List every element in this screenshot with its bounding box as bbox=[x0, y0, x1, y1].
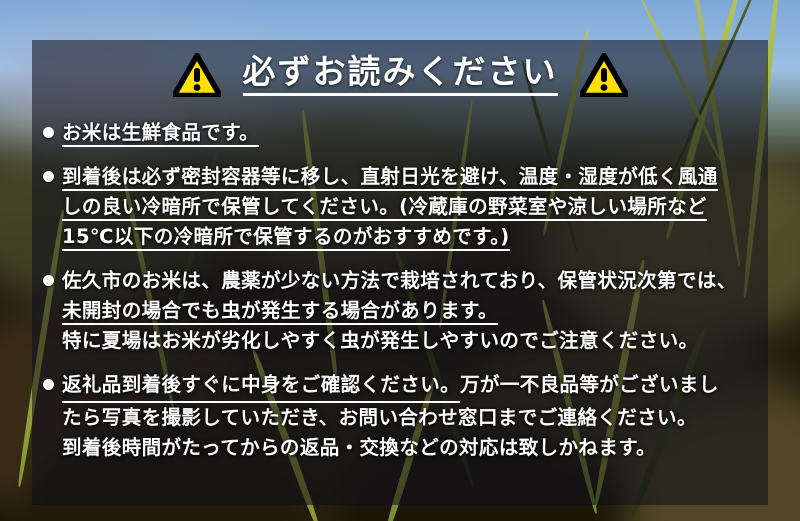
notice-line-text-underlined: 返礼品到着後すぐに中身をご確認ください。 bbox=[62, 370, 460, 403]
notice-item-fresh-food: お米は生鮮食品です。 bbox=[32, 118, 768, 148]
bullet-dot-icon bbox=[43, 171, 54, 182]
bullet-dot-icon bbox=[43, 275, 54, 286]
notice-line-text: 佐久市のお米は、農薬が少ない方法で栽培されており、保管状況次第では、 bbox=[62, 269, 737, 292]
notice-line-text: 15℃以下の冷暗所で保管するのがおすすめです。) bbox=[62, 225, 510, 251]
notice-line: 到着後時間がたってからの返品・交換などの対応は致しかねます。 bbox=[62, 433, 768, 463]
notice-line-text: 未開封の場合でも虫が発生する場合があります。 bbox=[62, 299, 498, 325]
heading-title: 必ずお読みください bbox=[243, 55, 558, 96]
notice-line: たら写真を撮影していただき、お問い合わせ窓口までご連絡ください。 bbox=[62, 403, 768, 433]
notice-line: 特に夏場はお米が劣化しやすく虫が発生しやすいのでご注意ください。 bbox=[62, 326, 768, 356]
notice-line-text: しの良い冷暗所で保管してください。(冷蔵庫の野菜室や涼しい場所など bbox=[62, 195, 707, 221]
notice-item-pesticide-insects: 佐久市のお米は、農薬が少ない方法で栽培されており、保管状況次第では、 未開封の場… bbox=[32, 266, 768, 356]
bullet-dot-icon bbox=[43, 127, 54, 138]
notice-line-text: たら写真を撮影していただき、お問い合わせ窓口までご連絡ください。 bbox=[62, 406, 697, 429]
notice-line: 到着後は必ず密封容器等に移し、直射日光を避け、温度・湿度が低く風通 bbox=[62, 162, 768, 192]
notice-line-text: お米は生鮮食品です。 bbox=[62, 121, 259, 147]
notice-line: 未開封の場合でも虫が発生する場合があります。 bbox=[62, 296, 768, 326]
notice-line-text: 到着後は必ず密封容器等に移し、直射日光を避け、温度・湿度が低く風通 bbox=[62, 165, 718, 191]
notice-line: 返礼品到着後すぐに中身をご確認ください。万が一不良品等がございまし bbox=[62, 370, 768, 403]
notice-line: しの良い冷暗所で保管してください。(冷蔵庫の野菜室や涼しい場所など bbox=[62, 192, 768, 222]
notice-item-inspect-on-arrival: 返礼品到着後すぐに中身をご確認ください。万が一不良品等がございまし たら写真を撮… bbox=[32, 370, 768, 463]
notice-line: 佐久市のお米は、農薬が少ない方法で栽培されており、保管状況次第では、 bbox=[62, 266, 768, 296]
notice-heading: 必ずお読みください bbox=[32, 44, 768, 106]
warning-triangle-icon bbox=[173, 53, 221, 97]
bullet-dot-icon bbox=[43, 379, 54, 390]
notice-line-text-rest: 万が一不良品等がございまし bbox=[460, 373, 719, 396]
notice-line-text: 特に夏場はお米が劣化しやすく虫が発生しやすいのでご注意ください。 bbox=[62, 329, 698, 352]
notice-item-storage: 到着後は必ず密封容器等に移し、直射日光を避け、温度・湿度が低く風通 しの良い冷暗… bbox=[32, 162, 768, 252]
notice-bullet-list: お米は生鮮食品です。 到着後は必ず密封容器等に移し、直射日光を避け、温度・湿度が… bbox=[32, 118, 768, 477]
notice-line: 15℃以下の冷暗所で保管するのがおすすめです。) bbox=[62, 222, 768, 252]
rice-storage-notice-banner: 必ずお読みください お米は生鮮食品です。 到着後は必ず密封容器等に移し、直射日光… bbox=[0, 0, 800, 521]
warning-triangle-icon bbox=[580, 53, 628, 97]
notice-line-text: 到着後時間がたってからの返品・交換などの対応は致しかねます。 bbox=[62, 436, 656, 459]
notice-line: お米は生鮮食品です。 bbox=[62, 118, 768, 148]
